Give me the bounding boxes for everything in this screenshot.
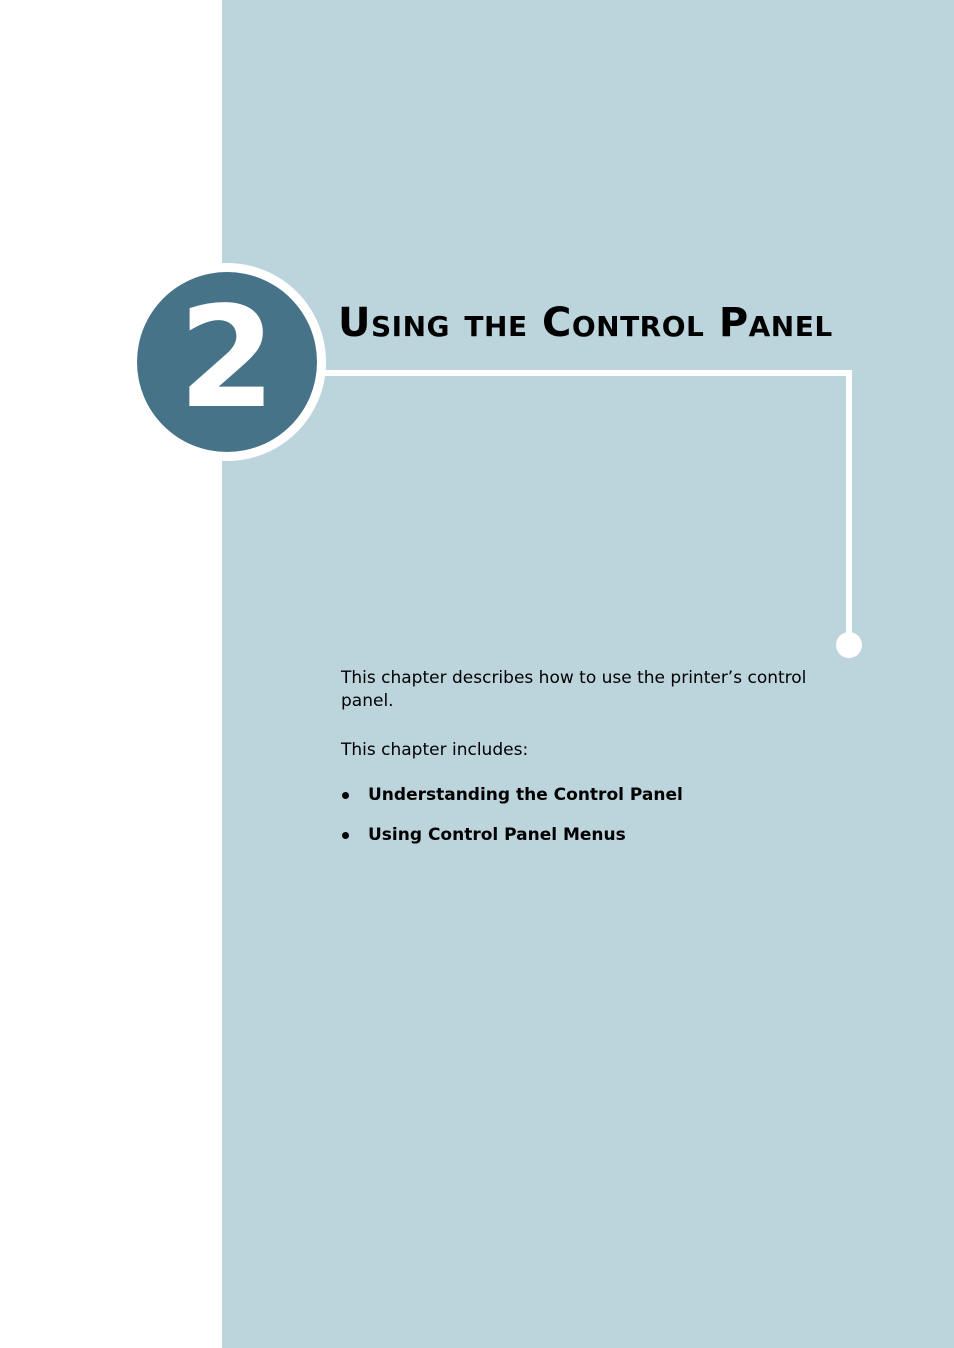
- left-white-margin: [0, 0, 222, 1348]
- toc-item-label: Using Control Panel Menus: [368, 825, 626, 845]
- bullet-icon: [342, 832, 349, 839]
- chapter-number: 2: [137, 272, 317, 452]
- title-rule-horizontal: [322, 370, 852, 376]
- chapter-title: Using the Control Panel: [338, 300, 833, 346]
- toc-item-label: Understanding the Control Panel: [368, 785, 683, 805]
- chapter-toc-list: Understanding the Control Panel Using Co…: [341, 784, 841, 846]
- chapter-opener-page: 2 Using the Control Panel This chapter d…: [0, 0, 954, 1348]
- chapter-intro-block: This chapter describes how to use the pr…: [341, 667, 841, 864]
- chapter-intro-paragraph: This chapter describes how to use the pr…: [341, 667, 841, 713]
- bullet-icon: [342, 792, 349, 799]
- list-item[interactable]: Understanding the Control Panel: [341, 784, 841, 806]
- chapter-includes-label: This chapter includes:: [341, 739, 841, 762]
- list-item[interactable]: Using Control Panel Menus: [341, 824, 841, 846]
- title-rule-vertical: [846, 370, 852, 642]
- title-rule-end-dot-icon: [836, 632, 862, 658]
